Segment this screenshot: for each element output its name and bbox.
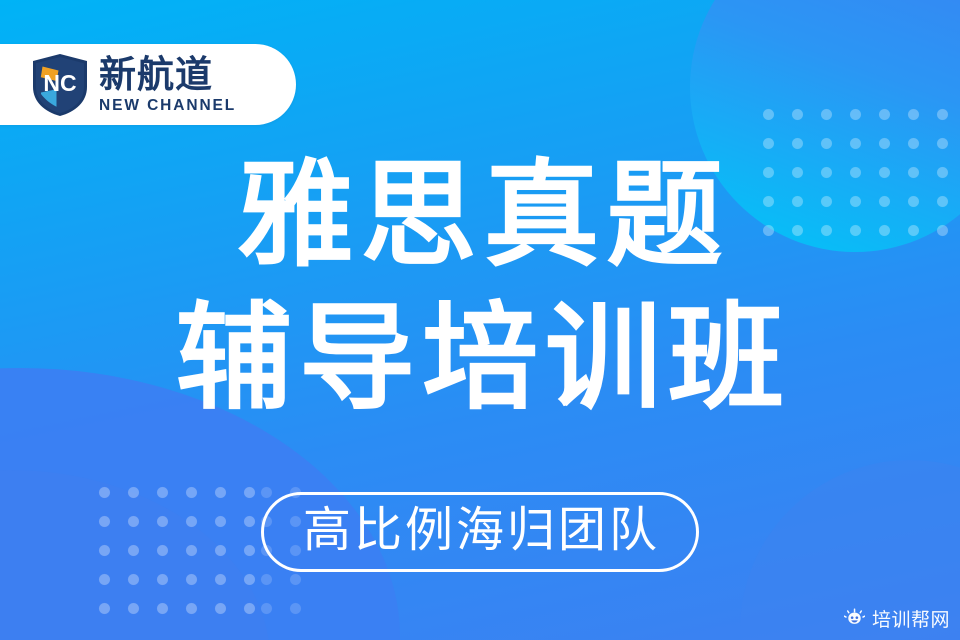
shield-logo-icon: NC bbox=[30, 53, 90, 117]
svg-text:NC: NC bbox=[43, 70, 76, 96]
brand-logo-bar: NC 新航道 NEW CHANNEL bbox=[0, 44, 296, 125]
watermark-label: 培训帮网 bbox=[872, 605, 950, 632]
sun-face-icon bbox=[844, 608, 865, 629]
subtitle-block: 高比例海归团队 bbox=[0, 492, 960, 572]
headline-line-1: 雅思真题 bbox=[0, 148, 960, 285]
headline-block: 雅思真题 辅导培训班 bbox=[0, 148, 960, 428]
headline-line-2: 辅导培训班 bbox=[0, 291, 960, 428]
subtitle-pill: 高比例海归团队 bbox=[261, 492, 699, 572]
watermark: 培训帮网 bbox=[844, 605, 950, 632]
brand-name-en: NEW CHANNEL bbox=[99, 98, 236, 114]
brand-logo-group: NC 新航道 NEW CHANNEL bbox=[30, 53, 236, 117]
brand-wordmark: 新航道 NEW CHANNEL bbox=[99, 56, 236, 114]
brand-name-cn: 新航道 bbox=[99, 56, 236, 93]
poster-canvas: NC 新航道 NEW CHANNEL 雅思真题 辅导培训班 高比例海归团队 bbox=[0, 0, 960, 640]
